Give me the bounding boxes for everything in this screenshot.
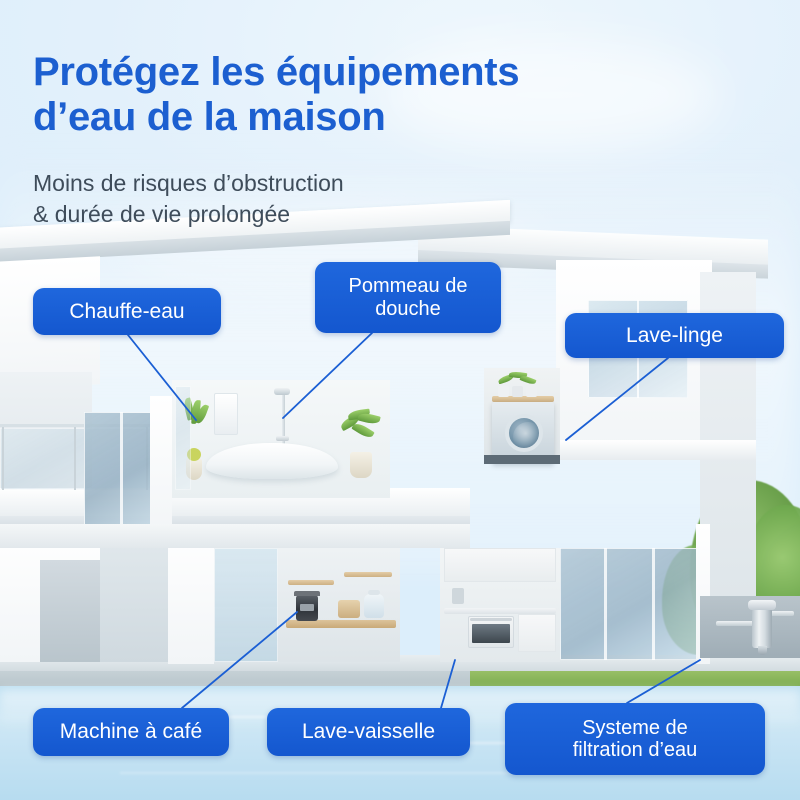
headline-line-2: d’eau de la maison xyxy=(33,95,633,140)
callout-water-filtration[interactable]: Systeme de filtration d’eau xyxy=(505,703,765,775)
glass-jar xyxy=(364,594,384,618)
pantry-shelf-upper xyxy=(288,580,334,585)
door-mullion xyxy=(120,412,123,532)
kitchen-base-cabinet xyxy=(518,614,556,652)
bread-basket xyxy=(338,600,360,618)
kitchen-upper-cabinets xyxy=(444,548,556,582)
callout-washing-machine[interactable]: Lave-linge xyxy=(565,313,784,358)
water-heater-panel xyxy=(214,393,238,435)
page-subtitle: Moins de risques d’obstruction & durée d… xyxy=(33,168,593,230)
poster-canvas: Chauffe-eau Pommeau de douche Lave-linge… xyxy=(0,0,800,800)
coffee-machine-top xyxy=(294,591,320,596)
filtration-unit-cap xyxy=(748,600,776,610)
shower-head xyxy=(274,388,290,395)
ceiling-soffit xyxy=(0,524,470,548)
water-filtration-unit xyxy=(752,608,772,648)
sliding-glass-wall xyxy=(560,548,700,660)
jar-lid xyxy=(368,590,380,595)
coffee-machine-panel xyxy=(300,604,314,611)
plant-pot xyxy=(350,452,372,478)
wall-lower-recess xyxy=(100,530,170,662)
kitchen-utensil-holder xyxy=(452,588,464,604)
subhead-line-1: Moins de risques d’obstruction xyxy=(33,168,593,199)
glazing-mullion xyxy=(652,548,655,660)
laundry-plant xyxy=(498,370,538,388)
oven-door-glass xyxy=(472,624,510,643)
floor-slab-right xyxy=(556,440,756,460)
page-title: Protégez les équipements d’eau de la mai… xyxy=(33,50,633,140)
oven-handle xyxy=(470,618,512,621)
curtain-glass xyxy=(214,548,278,662)
pantry-counter xyxy=(286,620,396,628)
callout-shower-head[interactable]: Pommeau de douche xyxy=(315,262,501,333)
wall-pier-upper xyxy=(150,396,172,536)
bathroom-plant-right xyxy=(340,408,382,456)
callout-coffee-machine[interactable]: Machine à café xyxy=(33,708,229,756)
callout-water-heater[interactable]: Chauffe-eau xyxy=(33,288,221,335)
filtration-drain-valve xyxy=(758,646,767,655)
bathroom-window xyxy=(175,386,191,490)
laundry-floor-shadow xyxy=(484,455,560,464)
shower-mixer xyxy=(276,436,289,441)
ground-opening xyxy=(40,560,100,662)
railing-post xyxy=(74,424,76,490)
callout-dishwasher[interactable]: Lave-vaisselle xyxy=(267,708,470,756)
railing-post xyxy=(2,424,4,490)
subhead-line-2: & durée de vie prolongée xyxy=(33,199,593,230)
pantry-shelf-upper2 xyxy=(344,572,392,577)
washing-machine-door xyxy=(505,414,543,452)
glazing-mullion xyxy=(604,548,607,660)
headline-line-1: Protégez les équipements xyxy=(33,50,633,95)
